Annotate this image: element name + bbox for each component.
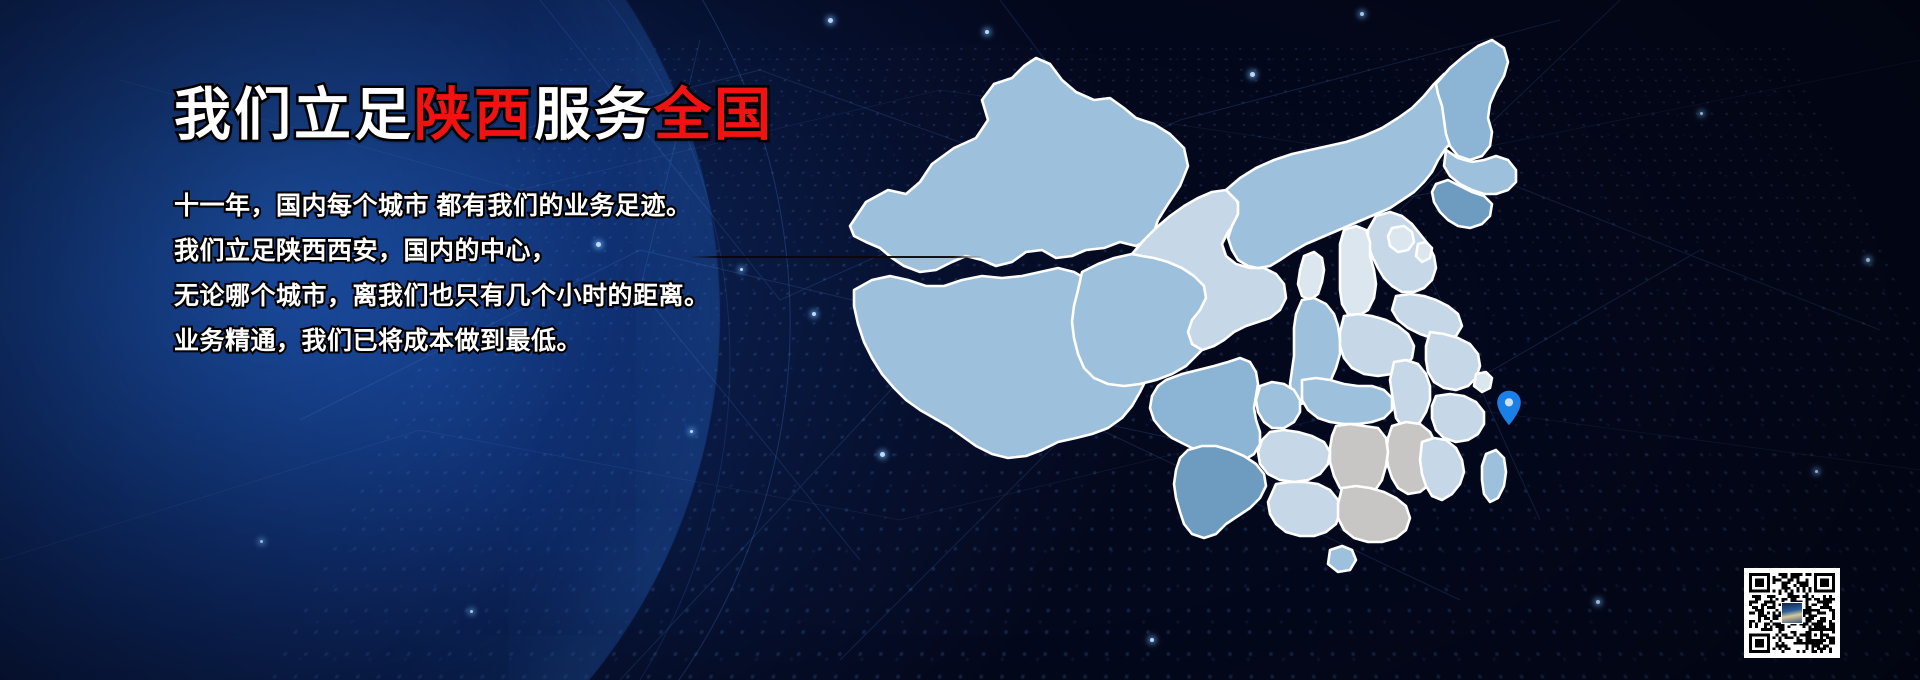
qr-code-center-logo <box>1781 602 1803 624</box>
province-guizhou <box>1258 430 1330 482</box>
promo-banner: 我们立足陕西服务全国 十一年，国内每个城市 都有我们的业务足迹。 我们立足陕西西… <box>0 0 1920 680</box>
province-jiangsu <box>1426 332 1480 390</box>
body-copy: 十一年，国内每个城市 都有我们的业务足迹。 我们立足陕西西安，国内的中心， 无论… <box>174 184 874 364</box>
province-anhui <box>1390 360 1430 428</box>
headline-segment-1: 我们立足 <box>174 83 414 147</box>
province-hubei <box>1302 378 1392 424</box>
body-copy-line-1: 十一年，国内每个城市 都有我们的业务足迹。 <box>174 184 874 229</box>
wechat-qr-code[interactable] <box>1744 568 1840 658</box>
headline-segment-nationwide: 全国 <box>654 83 774 147</box>
province-hainan <box>1328 546 1356 572</box>
province-guangxi <box>1268 482 1340 536</box>
china-map <box>836 14 1576 574</box>
headline-segment-3: 服务 <box>534 83 654 147</box>
body-copy-line-2: 我们立足陕西西安，国内的中心， <box>174 229 874 274</box>
province-zhejiang <box>1432 394 1484 442</box>
headline-segment-shaanxi: 陕西 <box>414 83 534 147</box>
body-copy-line-3: 无论哪个城市，离我们也只有几个小时的距离。 <box>174 274 874 319</box>
province-yunnan <box>1174 446 1266 538</box>
province-beijing <box>1388 226 1414 252</box>
page-title: 我们立足陕西服务全国 <box>174 82 874 148</box>
province-tianjin <box>1416 242 1432 262</box>
province-ningxia <box>1298 252 1324 300</box>
province-fujian <box>1420 438 1464 500</box>
province-chongqing <box>1256 382 1300 428</box>
body-copy-line-4: 业务精通，我们已将成本做到最低。 <box>174 319 874 364</box>
copy-block: 我们立足陕西服务全国 十一年，国内每个城市 都有我们的业务足迹。 我们立足陕西西… <box>174 82 874 364</box>
qr-code-matrix <box>1749 573 1835 653</box>
province-shanghai <box>1474 372 1492 392</box>
province-xinjiang <box>850 58 1188 272</box>
province-taiwan <box>1482 450 1506 502</box>
province-guangdong <box>1338 486 1410 542</box>
map-location-pin-icon[interactable] <box>1496 390 1522 426</box>
